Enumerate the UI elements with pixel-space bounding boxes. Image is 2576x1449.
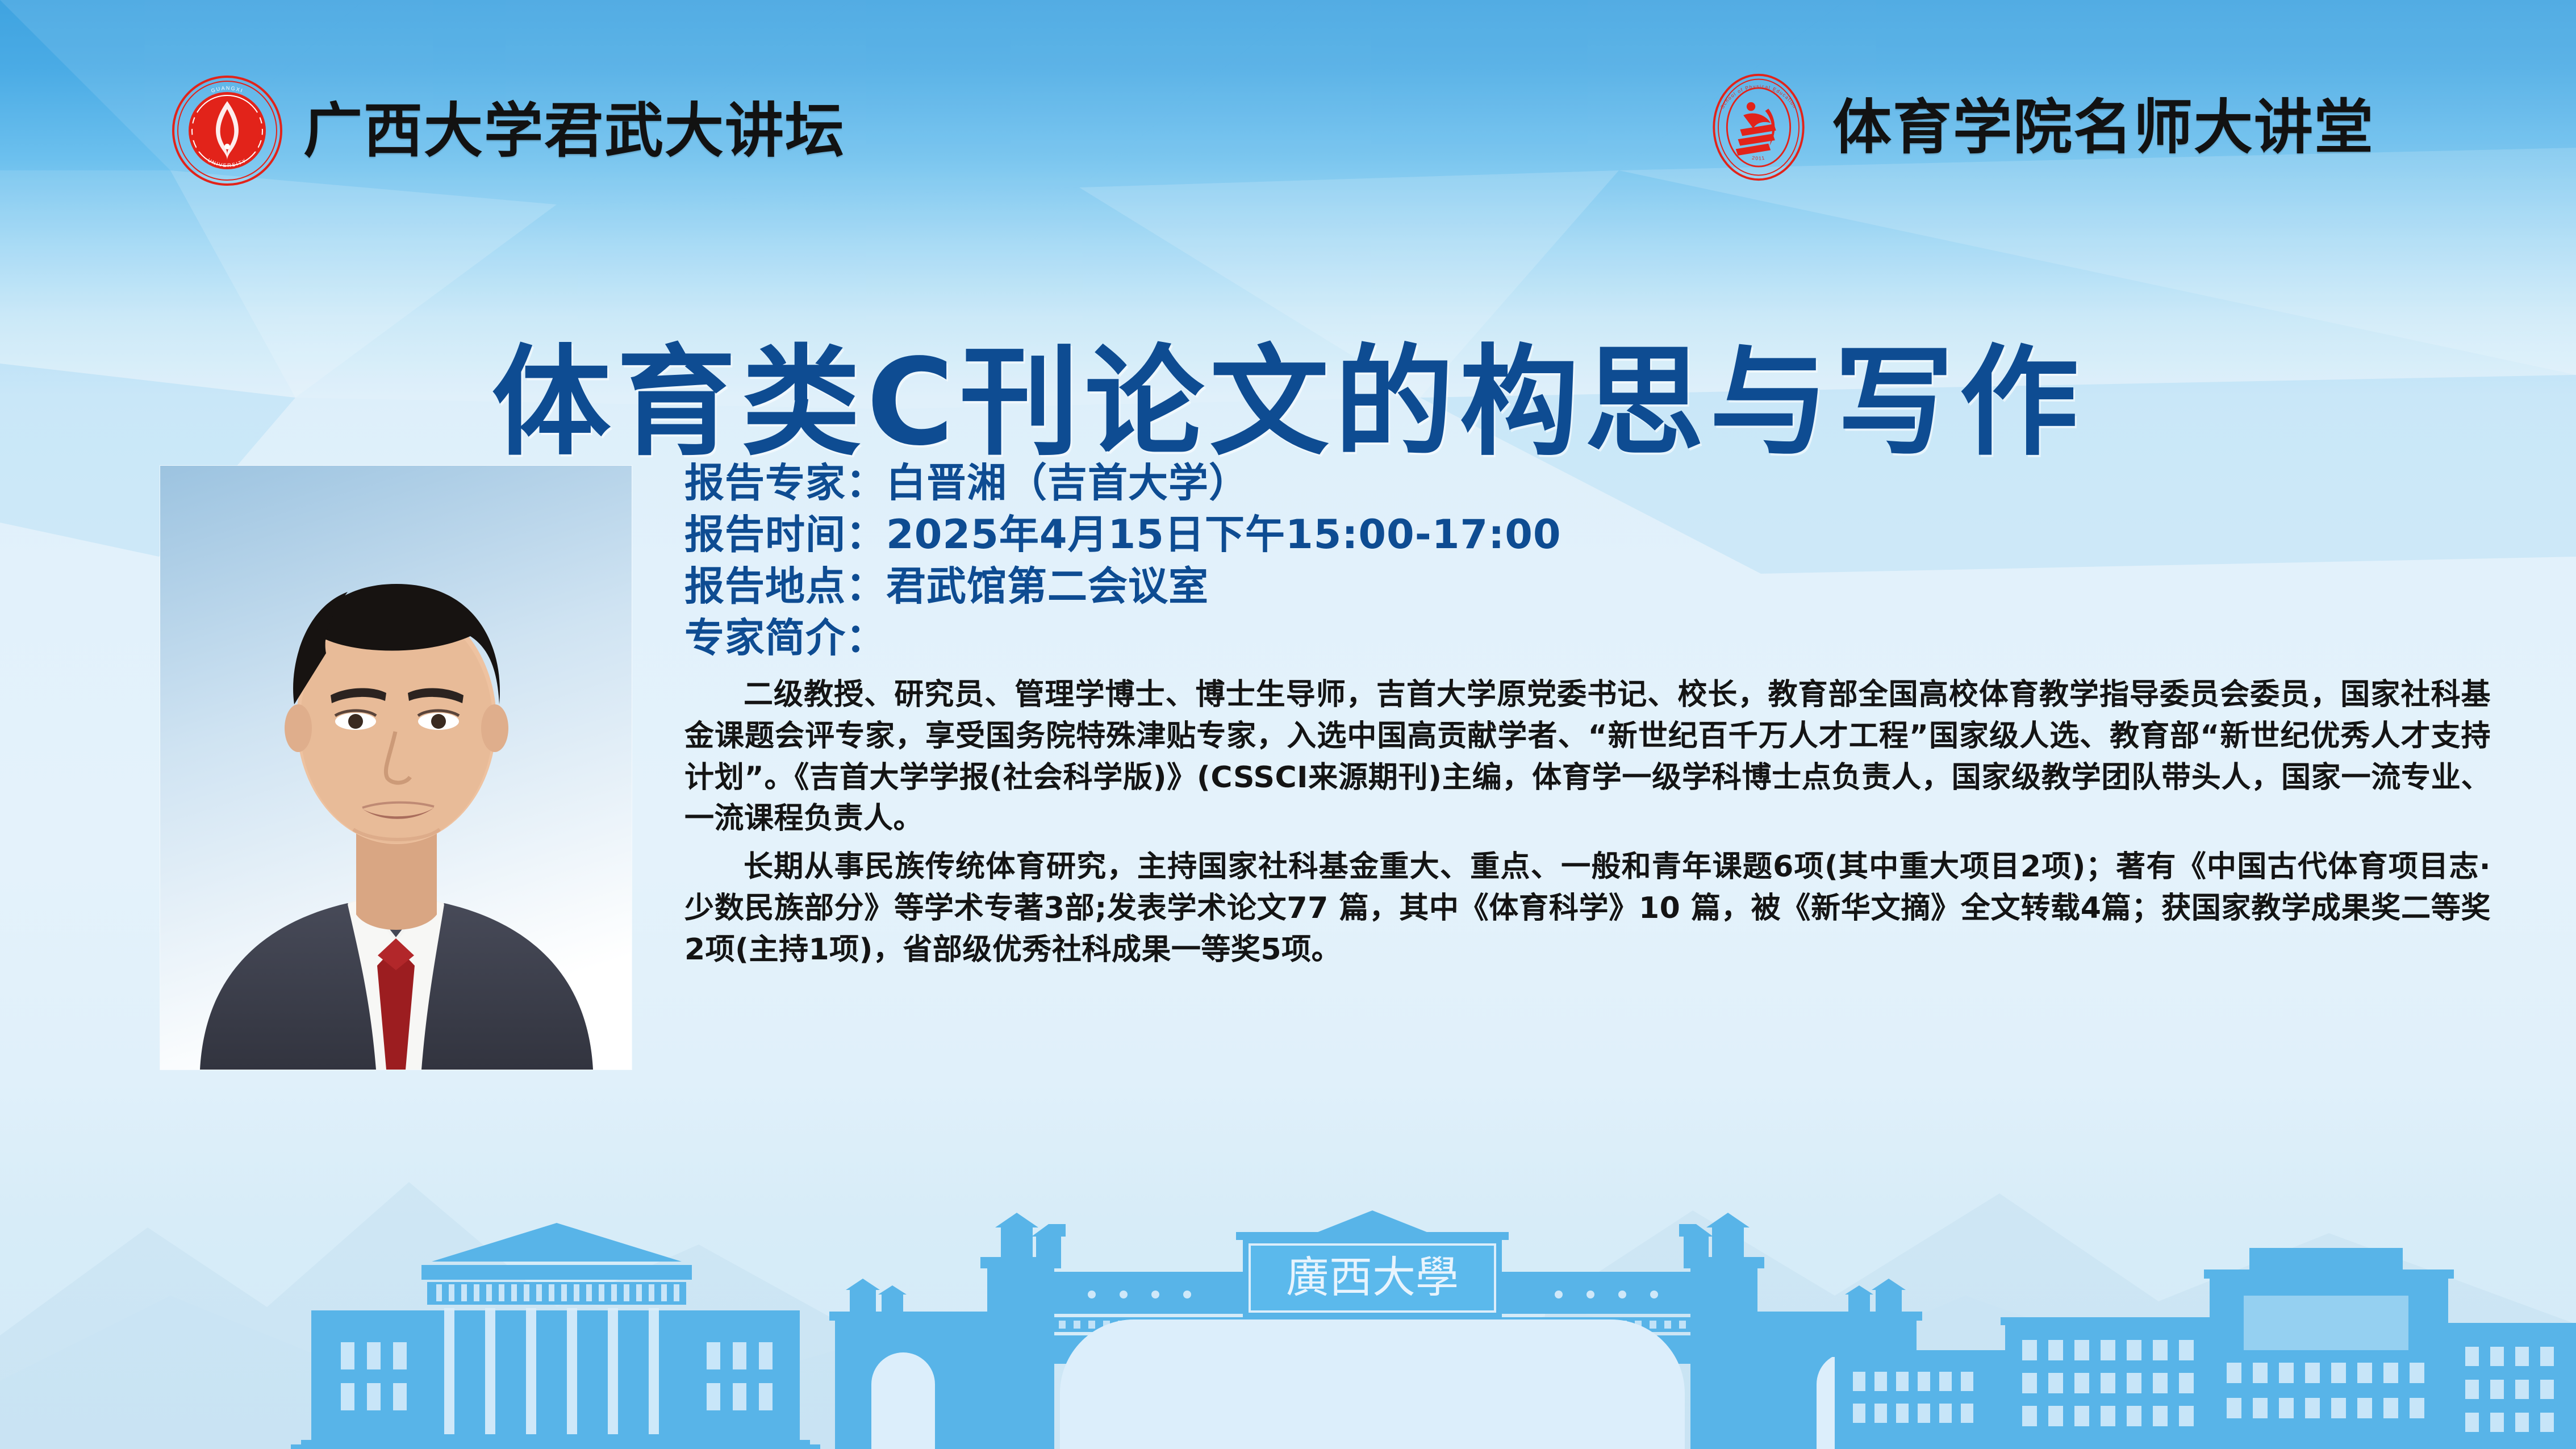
event-info-block: 报告专家：白晋湘（吉首大学） 报告时间：2025年4月15日下午15:00-17… [684,457,2491,971]
guangxi-university-seal-icon: GUANGXI UNIVERSITY [170,74,284,187]
speaker-line: 报告专家：白晋湘（吉首大学） [684,457,2491,509]
portrait-illustration [160,466,632,1070]
gate-plaque-text: 廣西大學 [1286,1252,1459,1302]
venue-line: 报告地点：君武馆第二会议室 [684,561,2491,612]
library-building-silhouette [291,1223,820,1449]
left-brand-label: 广西大学君武大讲坛 [303,101,845,160]
campus-skyline: 廣西大學 [0,1131,2576,1449]
bio-paragraph-2: 长期从事民族传统体育研究，主持国家社科基金重大、重点、一般和青年课题6项(其中重… [684,846,2491,970]
brand-guangxi-university: GUANGXI UNIVERSITY 广西大学君武大讲坛 [170,74,845,187]
university-gate-silhouette: 廣西大學 [829,1210,1922,1449]
poster-canvas: GUANGXI UNIVERSITY 广西大学君武大讲坛 [0,0,2576,1449]
bio-heading: 专家简介： [684,612,2491,664]
svg-text:2011: 2011 [1752,155,1766,161]
speaker-biography: 二级教授、研究员、管理学博士、博士生导师，吉首大学原党委书记、校长，教育部全国高… [684,674,2491,971]
right-brand-label: 体育学院名师大讲堂 [1832,98,2374,157]
speaker-portrait [160,466,632,1070]
background-mountains [0,1040,2576,1449]
time-line: 报告时间：2025年4月15日下午15:00-17:00 [684,509,2491,561]
poster-header: GUANGXI UNIVERSITY 广西大学君武大讲坛 [0,0,2576,244]
school-of-physical-education-seal-icon: School of Physical Education 2011 [1704,73,1813,182]
brand-school-of-physical-education: School of Physical Education 2011 体育学院名师… [1704,73,2374,182]
page-title: 体育类C刊论文的构思与写作 [0,339,2576,467]
teaching-building-silhouette [1830,1248,2576,1449]
bio-paragraph-1: 二级教授、研究员、管理学博士、博士生导师，吉首大学原党委书记、校长，教育部全国高… [684,674,2491,840]
